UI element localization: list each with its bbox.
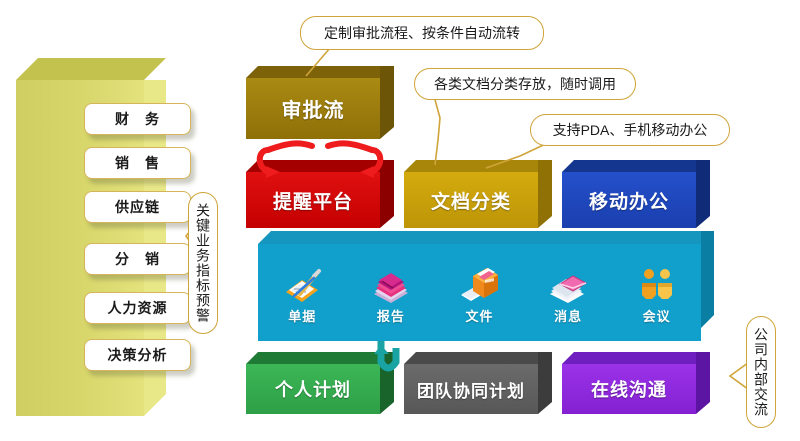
box-remind-platform[interactable]: 提醒平台	[246, 160, 394, 228]
box-label: 提醒平台	[246, 172, 380, 228]
pillar-item-supply-chain[interactable]: 供应链	[84, 191, 191, 223]
box-side-face	[380, 352, 394, 414]
panel-item-label: 单据	[288, 306, 316, 325]
panel-item-file[interactable]: 文件	[440, 260, 518, 325]
pillar-item-label: 决策分析	[108, 345, 168, 365]
callout-text: 支持PDA、手机移动办公	[553, 120, 708, 140]
box-mobile-office[interactable]: 移动办公	[562, 160, 710, 228]
box-side-face	[538, 160, 552, 228]
box-side-face	[380, 160, 394, 228]
panel-item-label: 会议	[643, 306, 671, 325]
panel-item-label: 文件	[465, 306, 493, 325]
box-document-classification[interactable]: 文档分类	[404, 160, 552, 228]
box-online-communication[interactable]: 在线沟通	[562, 352, 710, 414]
box-label: 个人计划	[246, 364, 380, 414]
pillar-item-distribution[interactable]: 分 销	[84, 243, 191, 275]
box-label: 在线沟通	[562, 364, 696, 414]
pillar-item-finance[interactable]: 财 务	[84, 103, 191, 135]
box-top-face	[246, 66, 394, 78]
box-top-face	[562, 160, 710, 172]
panel-item-message[interactable]: 消息	[529, 260, 607, 325]
pillar-item-sales[interactable]: 销 售	[84, 147, 191, 179]
box-approval-flow[interactable]: 审批流	[246, 66, 394, 139]
callout-text: 关键业务指标预警	[193, 203, 213, 323]
callout-text: 各类文档分类存放，随时调用	[434, 74, 616, 94]
box-personal-plan[interactable]: 个人计划	[246, 352, 394, 414]
pillar-item-label: 人力资源	[108, 298, 168, 318]
box-top-face	[246, 352, 394, 364]
books-icon	[369, 260, 413, 304]
callout-document[interactable]: 各类文档分类存放，随时调用	[414, 68, 636, 100]
pillar-item-label: 供应链	[115, 197, 160, 217]
box-label: 团队协同计划	[404, 364, 538, 414]
box-top-face	[246, 160, 394, 172]
callout-mobile[interactable]: 支持PDA、手机移动办公	[530, 114, 730, 146]
box-side-face	[380, 66, 394, 139]
box-label: 审批流	[246, 78, 380, 139]
pillar-item-hr[interactable]: 人力资源	[84, 292, 191, 324]
two-people-icon	[635, 260, 679, 304]
box-side-face	[538, 352, 552, 414]
pillar-item-label: 分 销	[115, 249, 160, 269]
diagram-canvas: 财 务 销 售 供应链 分 销 人力资源 决策分析 审批流 提醒平台 文档分类 …	[0, 0, 800, 441]
callout-approval-flow[interactable]: 定制审批流程、按条件自动流转	[300, 16, 544, 50]
clipboard-pen-icon	[280, 260, 324, 304]
box-top-face	[562, 352, 710, 364]
box-label: 文档分类	[404, 172, 538, 228]
pillar-top-face	[16, 58, 166, 80]
box-side-face	[696, 352, 710, 414]
callout-kpi-alert[interactable]: 关键业务指标预警	[188, 192, 218, 334]
callout-text: 定制审批流程、按条件自动流转	[324, 23, 520, 43]
callout-text: 公司内部交流	[751, 327, 771, 417]
pillar-item-decision-analysis[interactable]: 决策分析	[84, 339, 191, 371]
panel-top-face	[258, 231, 714, 244]
box-top-face	[404, 352, 552, 364]
box-label: 移动办公	[562, 172, 696, 228]
panel-item-report[interactable]: 报告	[352, 260, 430, 325]
callout-internal-communication[interactable]: 公司内部交流	[746, 316, 776, 428]
leader-document	[434, 96, 440, 165]
mail-envelope-icon	[546, 260, 590, 304]
panel-item-meeting[interactable]: 会议	[618, 260, 696, 325]
panel-item-label: 报告	[377, 306, 405, 325]
box-side-face	[696, 160, 710, 228]
panel-item-label: 消息	[554, 306, 582, 325]
box-top-face	[404, 160, 552, 172]
panel-icon-row: 单据 报告	[258, 244, 701, 341]
file-cabinet-icon	[457, 260, 501, 304]
box-team-plan[interactable]: 团队协同计划	[404, 352, 552, 414]
panel-side-face	[701, 231, 714, 328]
pillar-item-label: 销 售	[115, 153, 160, 173]
pillar-item-label: 财 务	[115, 109, 160, 129]
collaboration-panel: 单据 报告	[258, 231, 714, 341]
panel-item-bill[interactable]: 单据	[263, 260, 341, 325]
